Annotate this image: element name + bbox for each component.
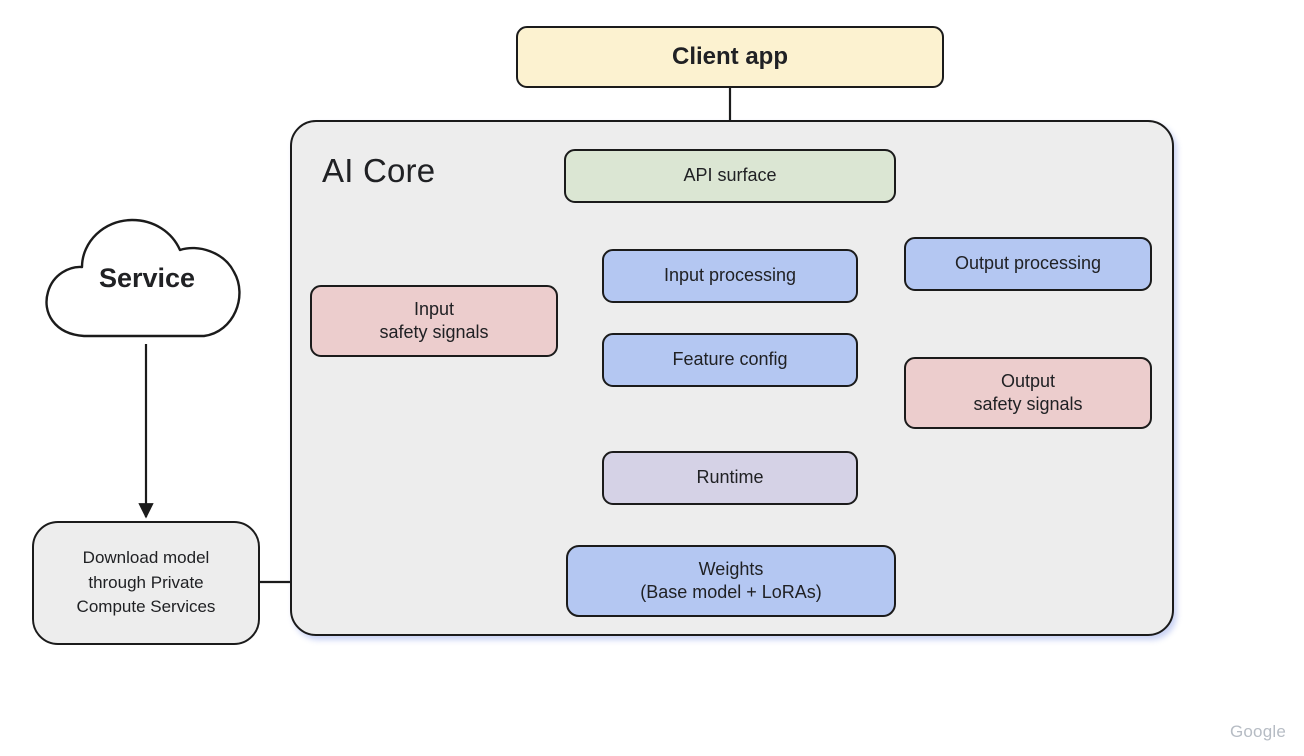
node-api-surface[interactable]: API surface <box>564 149 896 203</box>
node-output-safety-signals[interactable]: Output safety signals <box>904 357 1152 429</box>
node-download-model[interactable]: Download model through Private Compute S… <box>32 521 260 645</box>
node-feature-config-label: Feature config <box>672 348 787 371</box>
service-cloud-shape <box>38 208 256 348</box>
google-watermark: Google <box>1230 722 1286 742</box>
node-runtime-label: Runtime <box>696 466 763 489</box>
node-download-model-line2: through Private <box>77 571 216 596</box>
node-input-processing[interactable]: Input processing <box>602 249 858 303</box>
node-api-surface-label: API surface <box>683 164 776 187</box>
node-client-app[interactable]: Client app <box>516 26 944 88</box>
node-download-model-line3: Compute Services <box>77 595 216 620</box>
node-feature-config[interactable]: Feature config <box>602 333 858 387</box>
node-output-processing[interactable]: Output processing <box>904 237 1152 291</box>
node-input-safety-signals[interactable]: Input safety signals <box>310 285 558 357</box>
node-input-safety-signals-line2: safety signals <box>379 321 488 344</box>
node-input-safety-signals-line1: Input <box>379 298 488 321</box>
node-runtime[interactable]: Runtime <box>602 451 858 505</box>
ai-core-title: AI Core <box>322 152 435 190</box>
node-download-model-line1: Download model <box>77 546 216 571</box>
node-client-app-label: Client app <box>672 42 788 73</box>
node-output-processing-label: Output processing <box>955 252 1101 275</box>
node-weights-line2: (Base model + LoRAs) <box>640 581 822 604</box>
node-weights-line1: Weights <box>640 558 822 581</box>
node-weights[interactable]: Weights (Base model + LoRAs) <box>566 545 896 617</box>
node-output-safety-signals-line2: safety signals <box>973 393 1082 416</box>
node-output-safety-signals-line1: Output <box>973 370 1082 393</box>
node-input-processing-label: Input processing <box>664 264 796 287</box>
